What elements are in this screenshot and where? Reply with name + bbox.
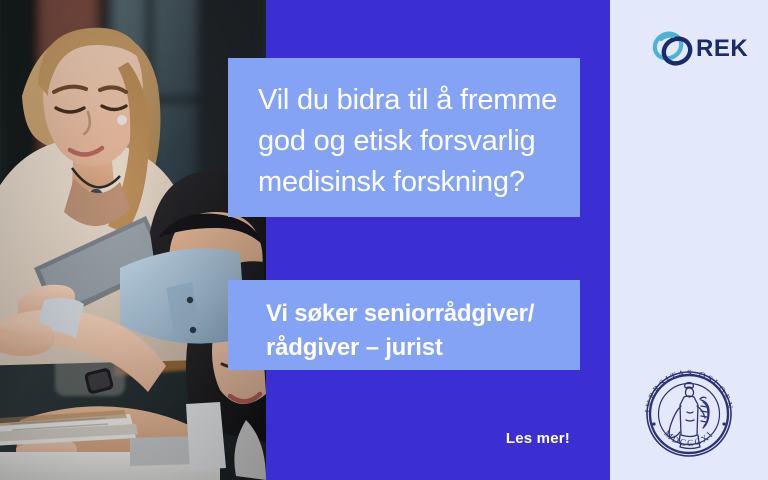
- rek-interlocking-rings-icon: [650, 29, 694, 68]
- uio-seal: UNIVERSITAS OSLOENSIS MDCCCXI: [637, 362, 741, 466]
- role-line-1: Vi søker seniorrådgiver/: [266, 297, 560, 331]
- rek-logo-svg: REK: [648, 26, 748, 74]
- headline-line-3: medisinsk forskning?: [258, 162, 554, 203]
- rek-logo: REK: [648, 26, 748, 74]
- team-photo: [0, 0, 266, 480]
- role-line-2: rådgiver – jurist: [266, 331, 560, 365]
- headline-callout: Vil du bidra til å fremme god og etisk f…: [228, 58, 580, 217]
- headline-line-2: god og etisk forsvarlig: [258, 121, 554, 162]
- rek-wordmark: REK: [696, 35, 748, 62]
- team-photo-illustration: [0, 0, 266, 480]
- role-callout: Vi søker seniorrådgiver/ rådgiver – juri…: [228, 280, 580, 370]
- headline-line-1: Vil du bidra til å fremme: [258, 80, 554, 121]
- recruitment-banner: Vil du bidra til å fremme god og etisk f…: [0, 0, 768, 480]
- read-more-link[interactable]: Les mer!: [380, 430, 570, 447]
- uio-seal-svg: UNIVERSITAS OSLOENSIS MDCCCXI: [637, 362, 741, 466]
